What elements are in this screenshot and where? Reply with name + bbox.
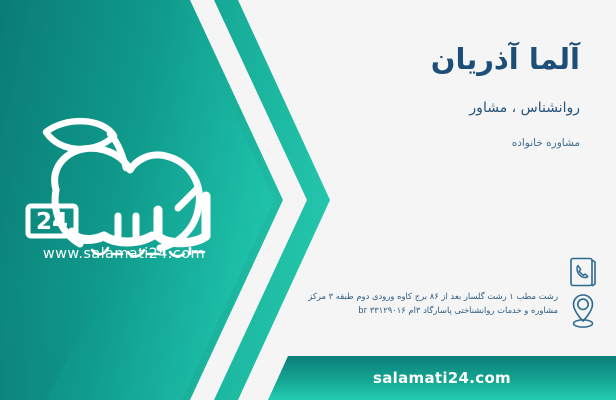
phone-book-icon [568,256,598,288]
badge-24-text: 24 [36,209,68,235]
person-name: آلما آذریان [431,42,580,76]
business-card: 24 www.salamati24.com آلما آذریان روانشن… [0,0,616,400]
person-specialty: مشاوره خانواده [512,137,580,149]
address-line-1: رشت مطب ١ رشت گلسار بعد از ٨۶ برج کاوه و… [313,290,558,304]
address-block: رشت مطب ١ رشت گلسار بعد از ٨۶ برج کاوه و… [313,290,558,318]
location-pin-icon [568,292,598,332]
person-role: روانشناس ، مشاور [469,100,580,116]
footer-website[interactable]: salamati24.com [268,356,616,400]
address-line-2: مشاوره و خدمات روانشناختی پاسارگاد ٣ام ٣… [313,304,558,318]
logo-website-url: www.salamati24.com [24,246,224,262]
